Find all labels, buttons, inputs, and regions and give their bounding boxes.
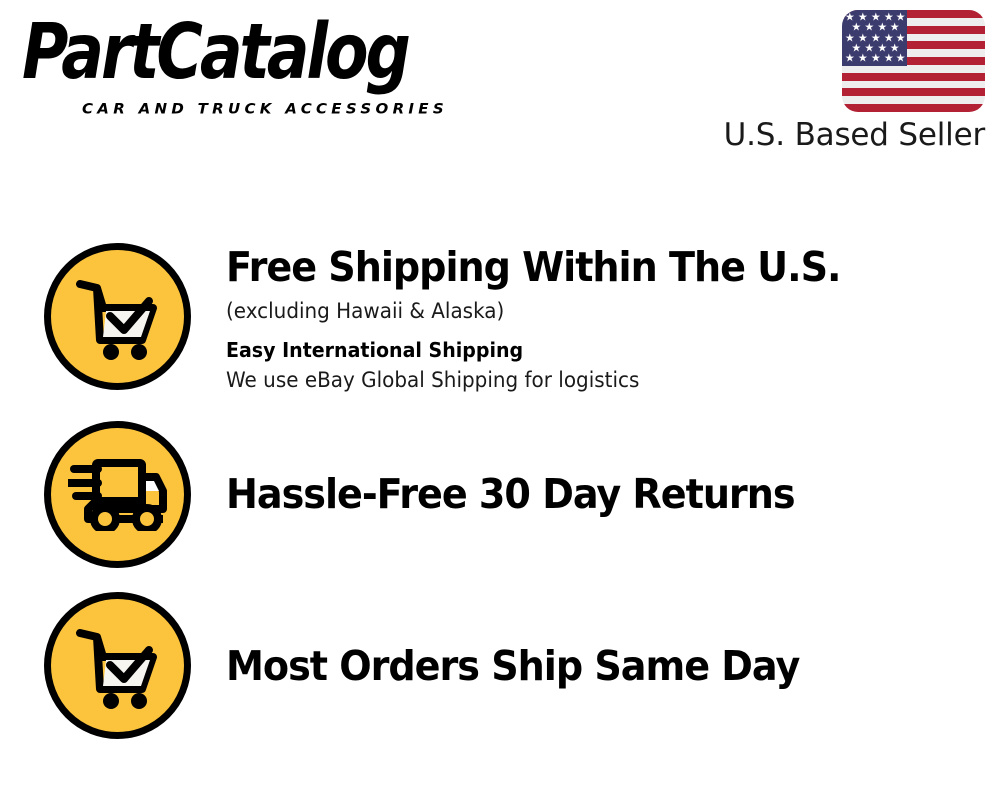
us-based-seller-label: U.S. Based Seller [715,118,985,152]
feature-text-block: Free Shipping Within The U.S. (excluding… [191,243,1000,393]
page-header: PartCatalog CAR AND TRUCK ACCESSORIES ★ … [0,0,1000,170]
delivery-truck-icon [44,421,191,568]
feature-row: Most Orders Ship Same Day [0,588,1000,743]
us-flag-icon: ★ ★ ★ ★ ★ ★ ★ ★ ★ ★ ★ ★ ★ ★ ★ ★ ★ ★ ★ ★ [842,10,985,112]
feature-title: Hassle-Free 30 Day Returns [226,472,946,518]
feature-title: Free Shipping Within The U.S. [226,245,946,291]
feature-title: Most Orders Ship Same Day [226,644,946,690]
feature-text-block: Hassle-Free 30 Day Returns [191,470,1000,518]
flag-canton: ★ ★ ★ ★ ★ ★ ★ ★ ★ ★ ★ ★ ★ ★ ★ ★ ★ ★ ★ ★ [842,10,907,66]
feature-row: Hassle-Free 30 Day Returns [0,415,1000,573]
feature-subtitle-logistics: We use eBay Global Shipping for logistic… [226,367,961,393]
feature-subtitle-international: Easy International Shipping [226,338,961,363]
feature-subtitle-exclusions: (excluding Hawaii & Alaska) [226,298,961,324]
brand-logo: PartCatalog CAR AND TRUCK ACCESSORIES [22,14,502,114]
feature-text-block: Most Orders Ship Same Day [191,642,1000,690]
us-based-seller-badge: ★ ★ ★ ★ ★ ★ ★ ★ ★ ★ ★ ★ ★ ★ ★ ★ ★ ★ ★ ★ [715,10,985,152]
feature-row: Free Shipping Within The U.S. (excluding… [0,243,1000,393]
shopping-cart-check-icon [44,592,191,739]
shopping-cart-check-icon [44,243,191,390]
brand-tagline: CAR AND TRUCK ACCESSORIES [82,102,448,116]
brand-wordmark: PartCatalog [22,14,408,91]
